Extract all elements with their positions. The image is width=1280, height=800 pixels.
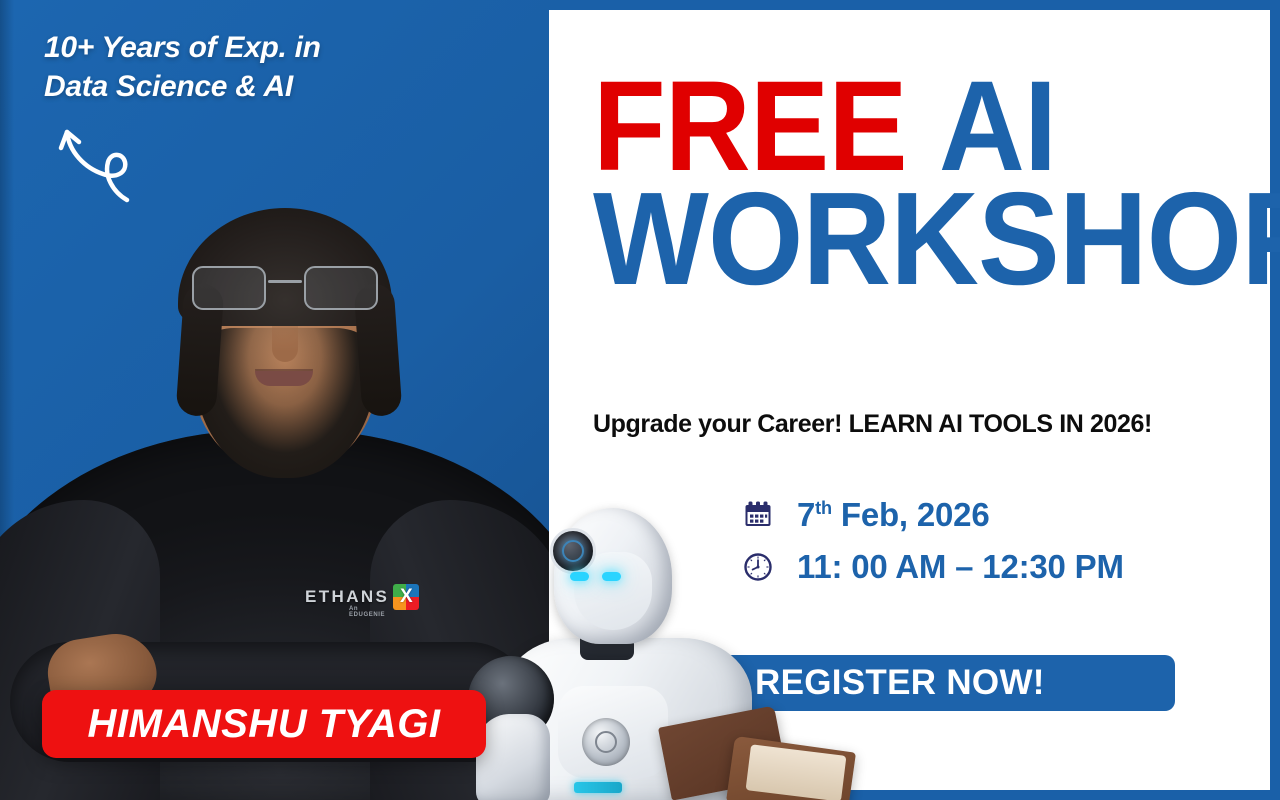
robot-eye-left xyxy=(570,572,589,581)
shirt-logo-x-glyph: X xyxy=(393,584,419,610)
promo-banner: 10+ Years of Exp. in Data Science & AI xyxy=(0,0,1280,800)
headline-line-2: WORKSHOP xyxy=(593,182,1188,296)
tagline-line-2: Data Science & AI xyxy=(44,67,444,106)
shirt-brand-logo: ETHANS An EDUGENIE X xyxy=(305,584,419,610)
experience-tagline: 10+ Years of Exp. in Data Science & AI xyxy=(44,28,444,106)
speaker-name-badge: HIMANSHU TYAGI xyxy=(42,690,486,758)
shirt-logo-word: ETHANS xyxy=(305,587,389,607)
subtitle: Upgrade your Career! LEARN AI TOOLS IN 2… xyxy=(593,410,1152,439)
speaker-mouth xyxy=(255,371,313,386)
page-title: FREE AI WORKSHOP xyxy=(593,72,1233,296)
glasses-bridge xyxy=(268,280,302,283)
curly-arrow-up-icon xyxy=(55,122,165,217)
tagline-line-1: 10+ Years of Exp. in xyxy=(44,28,444,67)
glasses-lens-right xyxy=(304,266,378,310)
speaker-name-label: HIMANSHU TYAGI xyxy=(88,702,441,747)
robot-chest-dial xyxy=(582,718,630,766)
shirt-logo-x-mark-icon: X xyxy=(393,584,419,610)
robot-eye-right xyxy=(602,572,621,581)
speaker-glasses xyxy=(186,262,384,314)
robot-ear-module xyxy=(550,528,596,574)
shirt-logo-tagline: An EDUGENIE xyxy=(349,606,389,618)
robot-arm xyxy=(476,714,550,800)
glasses-lens-left xyxy=(192,266,266,310)
reading-robot-illustration xyxy=(462,500,882,800)
robot-chest-vent-light xyxy=(574,782,622,793)
